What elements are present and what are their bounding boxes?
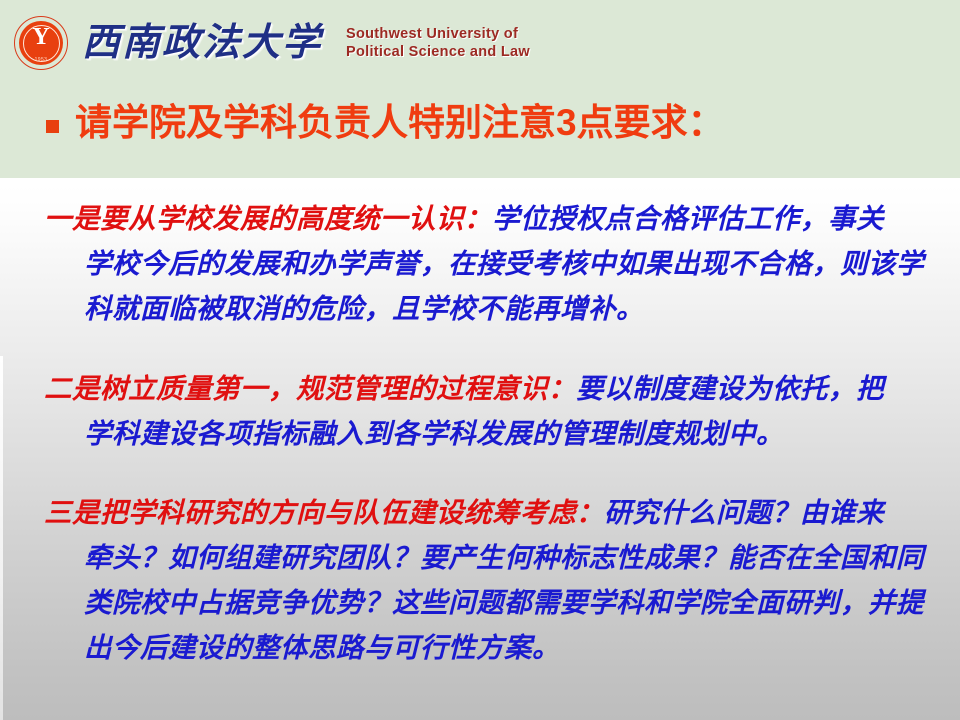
university-name-english-line1: Southwest University of [346, 25, 530, 43]
slide-title-row: 请学院及学科负责人特别注意3点要求： [46, 100, 725, 146]
paragraph-1-first-rest: 学位授权点合格评估工作，事关 [492, 203, 884, 234]
slide-body: 一是要从学校发展的高度统一认识：学位授权点合格评估工作，事关 学校今后的发展和办… [0, 178, 960, 720]
university-logo: Y 1953 西南政法大学 Southwest University of Po… [14, 10, 530, 76]
paragraph-3-first-line: 三是把学科研究的方向与队伍建设统筹考虑：研究什么问题？由谁来 [44, 490, 934, 535]
university-name-english: Southwest University of Political Scienc… [346, 25, 530, 61]
university-name-english-line2: Political Science and Law [346, 43, 530, 61]
body-paragraph-1: 一是要从学校发展的高度统一认识：学位授权点合格评估工作，事关 学校今后的发展和办… [44, 196, 934, 331]
body-paragraph-2: 二是树立质量第一，规范管理的过程意识：要以制度建设为依托，把 学科建设各项指标融… [44, 366, 934, 456]
paragraph-2-rest: 学科建设各项指标融入到各学科发展的管理制度规划中。 [84, 411, 934, 456]
paragraph-2-first-rest: 要以制度建设为依托，把 [576, 373, 884, 404]
paragraph-3-lead: 三是把学科研究的方向与队伍建设统筹考虑： [44, 497, 604, 528]
slide-title: 请学院及学科负责人特别注意3点要求： [75, 100, 725, 146]
square-bullet-icon [46, 120, 59, 133]
presentation-slide: Y 1953 西南政法大学 Southwest University of Po… [0, 0, 960, 720]
slide-header-band: Y 1953 西南政法大学 Southwest University of Po… [0, 0, 960, 178]
body-paragraph-3: 三是把学科研究的方向与队伍建设统筹考虑：研究什么问题？由谁来 牵头？如何组建研究… [44, 490, 934, 670]
university-name-chinese: 西南政法大学 [82, 18, 322, 68]
seal-glyph: Y [15, 23, 67, 51]
left-edge-accent [0, 356, 3, 720]
university-seal-icon: Y 1953 [14, 16, 68, 70]
paragraph-1-lead: 一是要从学校发展的高度统一认识： [44, 203, 492, 234]
paragraph-3-rest: 牵头？如何组建研究团队？要产生何种标志性成果？能否在全国和同类院校中占据竞争优势… [84, 535, 934, 670]
paragraph-1-rest: 学校今后的发展和办学声誉，在接受考核中如果出现不合格，则该学科就面临被取消的危险… [84, 241, 934, 331]
paragraph-2-lead: 二是树立质量第一，规范管理的过程意识： [44, 373, 576, 404]
paragraph-2-first-line: 二是树立质量第一，规范管理的过程意识：要以制度建设为依托，把 [44, 366, 934, 411]
paragraph-3-first-rest: 研究什么问题？由谁来 [604, 497, 884, 528]
paragraph-1-first-line: 一是要从学校发展的高度统一认识：学位授权点合格评估工作，事关 [44, 196, 934, 241]
seal-year: 1953 [15, 57, 67, 63]
